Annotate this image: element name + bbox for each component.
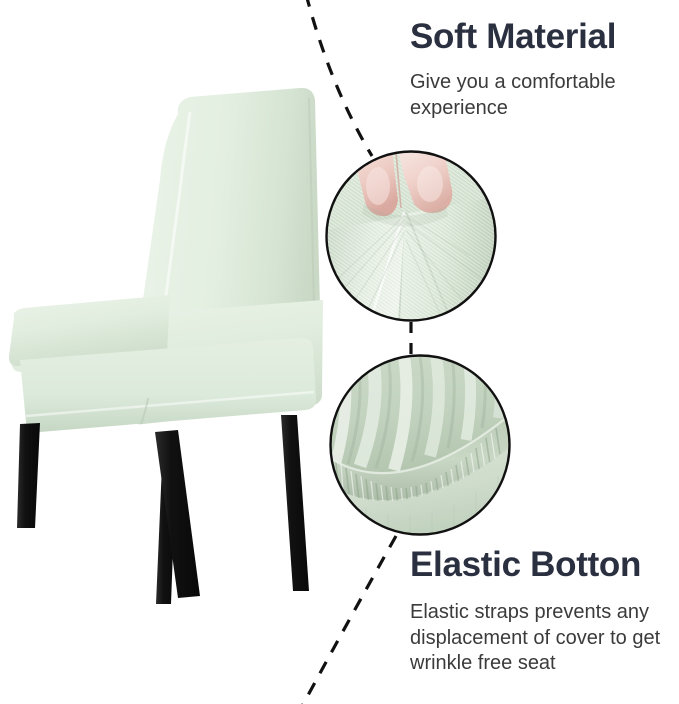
feature-text-elastic-botton: Elastic Botton Elastic straps prevents a…	[410, 544, 678, 677]
elastic-botton-body: Elastic straps prevents any displacement…	[410, 600, 678, 677]
chair-legs-front	[17, 423, 200, 598]
soft-material-heading: Soft Material	[410, 16, 672, 58]
product-infographic: Soft Material Give you a comfortable exp…	[0, 0, 679, 704]
connector-lower	[300, 536, 396, 704]
feature-text-soft-material: Soft Material Give you a comfortable exp…	[410, 16, 672, 121]
soft-material-detail-circle	[325, 150, 500, 325]
elastic-botton-detail-circle	[330, 355, 512, 540]
chair-with-slipcover	[9, 88, 330, 604]
connector-upper	[306, 0, 372, 156]
elastic-botton-heading: Elastic Botton	[410, 544, 678, 586]
soft-material-body: Give you a comfortable experience	[410, 70, 672, 121]
